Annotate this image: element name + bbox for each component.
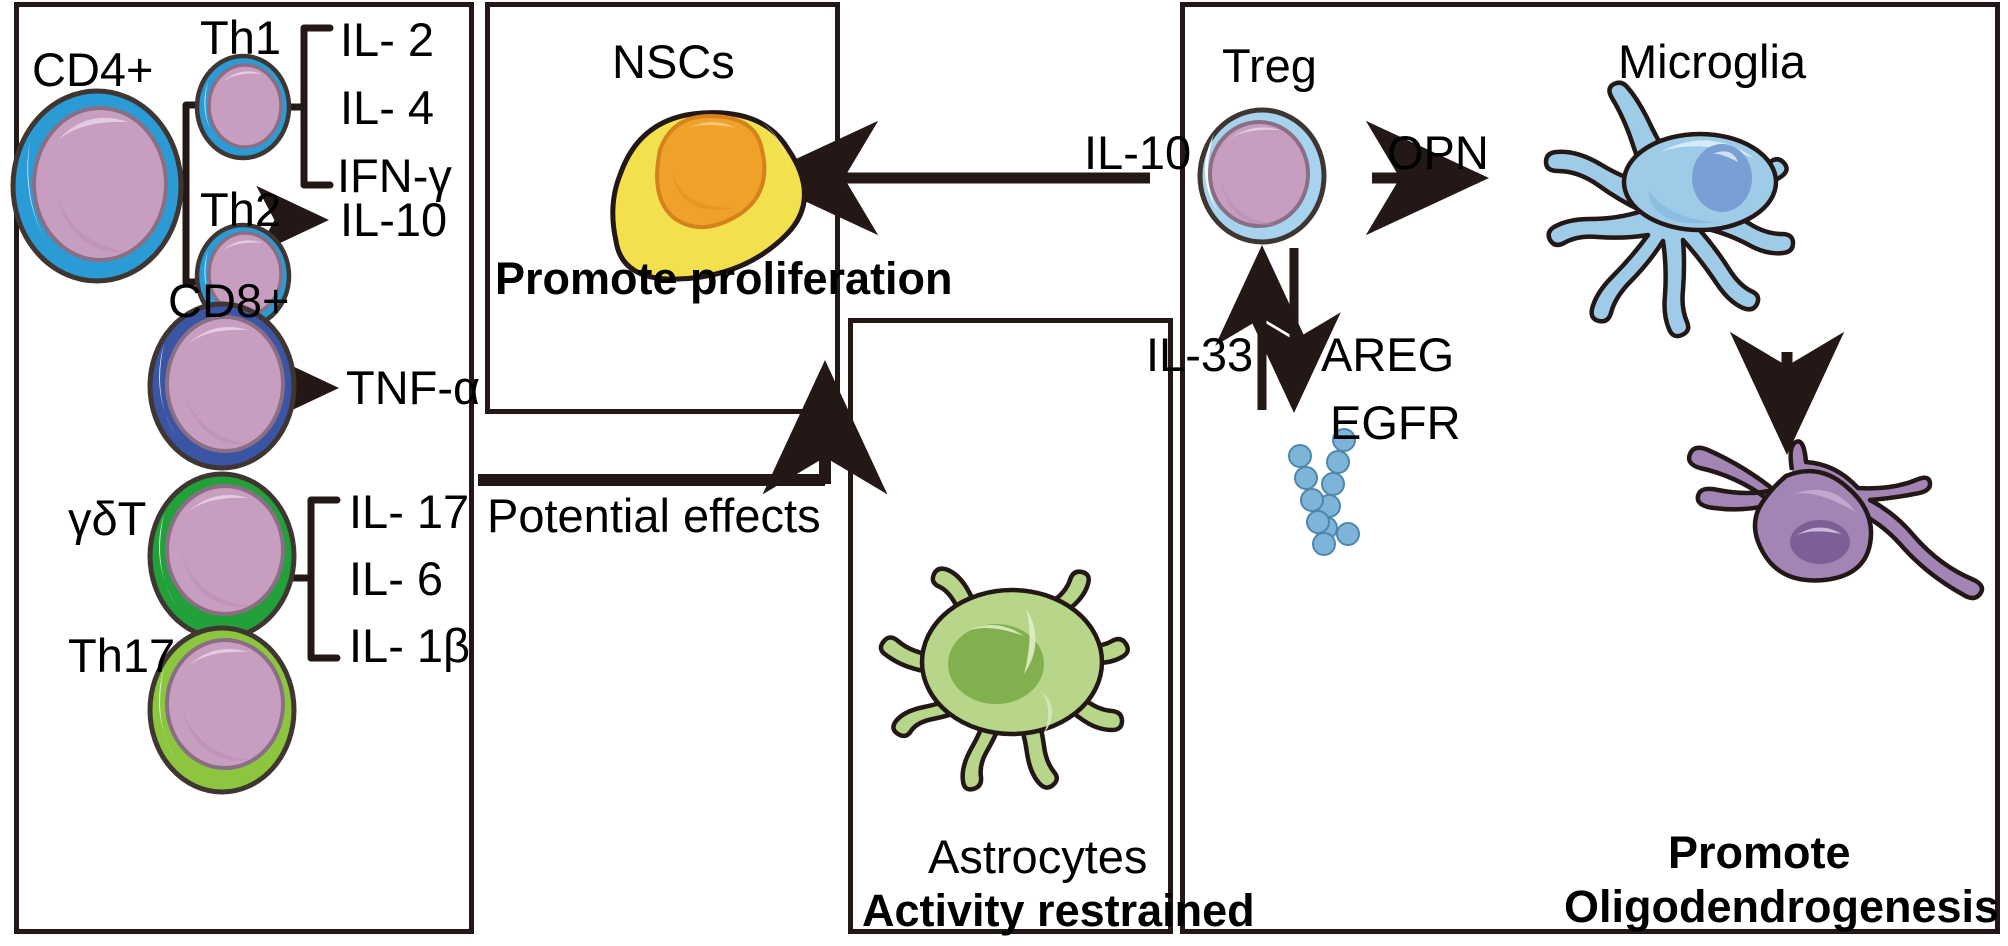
th2-label: Th2 <box>200 186 281 233</box>
astrocyte-caption: Activity restrained <box>862 888 1255 933</box>
th17-cytokine-il17: IL- 17 <box>349 488 469 535</box>
nsc-title: NSCs <box>612 38 735 85</box>
treg-title: Treg <box>1222 42 1317 89</box>
cd8-label: CD8+ <box>168 277 289 324</box>
areg-arrow-label: AREG <box>1321 331 1454 378</box>
t-cell-panel-border <box>14 2 474 934</box>
astrocyte-title: Astrocytes <box>928 833 1147 880</box>
il33-arrow-label: IL-33 <box>1146 331 1253 378</box>
th17-cytokine-il6: IL- 6 <box>349 555 443 602</box>
glia-panel-border <box>1180 2 2000 934</box>
th17-label: Th17 <box>68 632 175 679</box>
th1-cytokine-ifng: IFN-γ <box>337 152 452 199</box>
th1-label: Th1 <box>200 14 281 61</box>
th2-cytokine-il10: IL-10 <box>340 196 447 243</box>
cd4-label: CD4+ <box>32 46 153 93</box>
diagram-canvas: CD4+ Th1 Th2 CD8+ γδT Th17 IL- 2 IL- 4 I… <box>0 0 2008 946</box>
nsc-caption: Promote proliferation <box>495 256 953 301</box>
microglia-title: Microglia <box>1618 38 1806 85</box>
egfr-label: EGFR <box>1330 399 1461 446</box>
oligodendrogenesis-caption-line1: Promote <box>1668 830 1851 875</box>
potential-effects-label: Potential effects <box>487 492 821 539</box>
gdt-label: γδT <box>68 495 146 542</box>
th1-cytokine-il4: IL- 4 <box>340 84 434 131</box>
opn-arrow-label: OPN <box>1387 129 1489 176</box>
cd8-cytokine-tnfa: TNF-α <box>346 364 480 411</box>
th1-cytokine-il2: IL- 2 <box>340 16 434 63</box>
il10-arrow-label: IL-10 <box>1084 129 1191 176</box>
oligodendrogenesis-caption-line2: Oligodendrogenesis <box>1564 884 1999 929</box>
th17-cytokine-il1b: IL- 1β <box>349 622 470 669</box>
